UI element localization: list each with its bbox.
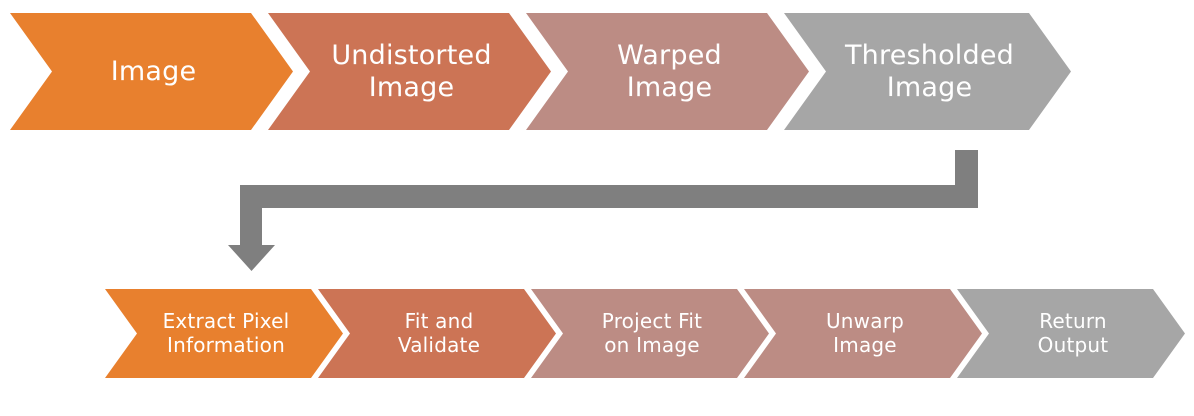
flowchart-canvas: Image Undistorted Image Warped Image Thr… bbox=[0, 0, 1194, 416]
chevron-extract-pixel-information[interactable]: Extract Pixel Information bbox=[105, 289, 343, 378]
chevron-label: Image bbox=[44, 56, 263, 88]
chevron-project-fit-on-image[interactable]: Project Fit on Image bbox=[531, 289, 769, 378]
chevron-thresholded-image[interactable]: Thresholded Image bbox=[784, 13, 1071, 130]
chevron-label: Extract Pixel Information bbox=[135, 310, 317, 357]
chevron-label: Undistorted Image bbox=[302, 40, 521, 104]
chevron-fit-and-validate[interactable]: Fit and Validate bbox=[318, 289, 556, 378]
chevron-label: Thresholded Image bbox=[818, 40, 1041, 104]
chevron-label: Project Fit on Image bbox=[561, 310, 743, 357]
chevron-unwarp-image[interactable]: Unwarp Image bbox=[744, 289, 982, 378]
chevron-image[interactable]: Image bbox=[10, 13, 293, 130]
connector-path bbox=[228, 150, 978, 271]
chevron-label: Return Output bbox=[987, 310, 1159, 357]
chevron-warped-image[interactable]: Warped Image bbox=[526, 13, 809, 130]
chevron-return-output[interactable]: Return Output bbox=[957, 289, 1185, 378]
chevron-label: Warped Image bbox=[560, 40, 779, 104]
chevron-label: Fit and Validate bbox=[348, 310, 530, 357]
chevron-undistorted-image[interactable]: Undistorted Image bbox=[268, 13, 551, 130]
chevron-label: Unwarp Image bbox=[774, 310, 956, 357]
